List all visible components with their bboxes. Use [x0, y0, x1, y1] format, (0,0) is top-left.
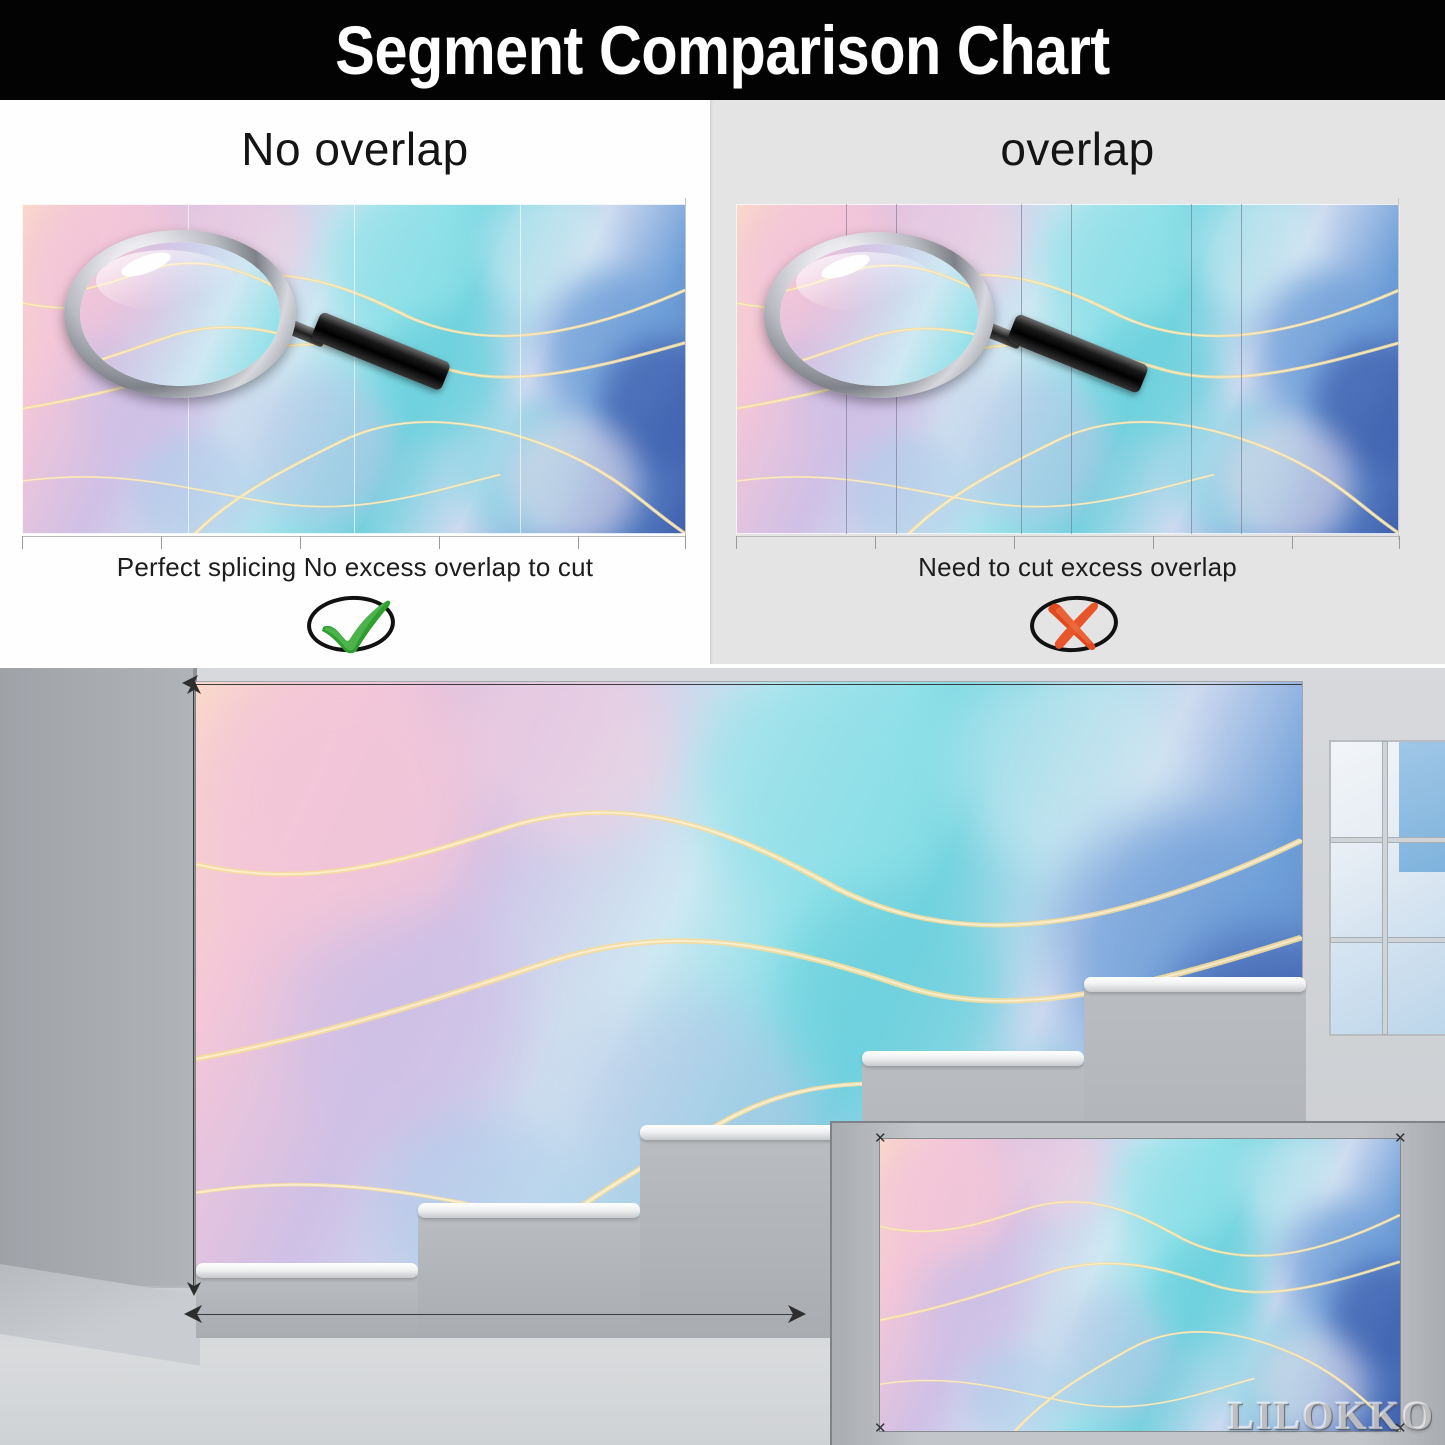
magnifying-glass-icon [764, 232, 994, 398]
seam-line-overlap [1191, 204, 1192, 534]
product-infographic: Segment Comparison Chart No overlap [0, 0, 1445, 1445]
inset-mural [880, 1139, 1400, 1431]
mural-sample-right [736, 204, 1400, 534]
marble-artwork [880, 1139, 1400, 1431]
cross-mark-icon [1028, 594, 1128, 656]
corner-mark: ✕ [874, 1421, 887, 1436]
panel-heading-right: overlap [710, 122, 1445, 176]
verdict-right [710, 594, 1445, 656]
seam-line [520, 204, 521, 534]
verdict-left [0, 594, 710, 656]
room-mockup: ✕ ✕ ✕ ✕ LILOKKO [0, 668, 1445, 1445]
window-sky [1399, 742, 1445, 872]
check-mark-icon [305, 594, 405, 656]
panel-heading-left: No overlap [0, 122, 710, 176]
height-dimension-line [193, 690, 194, 1286]
panel-no-overlap: No overlap [0, 100, 710, 664]
staircase-icon [196, 1276, 418, 1338]
width-dimension-line [196, 1314, 796, 1315]
left-wall [0, 668, 196, 1308]
mural-sample-left [22, 204, 686, 534]
width-arrow [780, 1302, 808, 1326]
page-title: Segment Comparison Chart [101, 0, 1344, 100]
staircase-icon [640, 1138, 862, 1338]
magnifying-glass-icon [64, 230, 296, 398]
edge-mark [685, 198, 686, 540]
corner-mark: ✕ [1394, 1131, 1407, 1146]
top-dimension-line [196, 684, 1302, 685]
top-arrow [180, 672, 208, 694]
seam-line-overlap [1241, 204, 1242, 534]
corner-mark: ✕ [874, 1131, 887, 1146]
edge-mark [1398, 198, 1399, 540]
window-icon [1331, 742, 1445, 1034]
panel-caption-left: Perfect splicing No excess overlap to cu… [0, 552, 710, 583]
panel-overlap: overlap [710, 100, 1445, 664]
title-bar: Segment Comparison Chart [0, 0, 1445, 100]
width-arrow [182, 1302, 210, 1326]
panel-caption-right: Need to cut excess overlap [710, 552, 1445, 583]
seam-line [354, 204, 355, 534]
staircase-icon [418, 1216, 640, 1338]
comparison-band: No overlap [0, 100, 1445, 664]
seam-line-overlap [1021, 204, 1022, 534]
watermark: LILOKKO [1228, 1392, 1435, 1439]
detail-inset: ✕ ✕ ✕ ✕ LILOKKO [832, 1123, 1445, 1445]
height-arrow [185, 1272, 207, 1298]
seam-line-overlap [1071, 204, 1072, 534]
